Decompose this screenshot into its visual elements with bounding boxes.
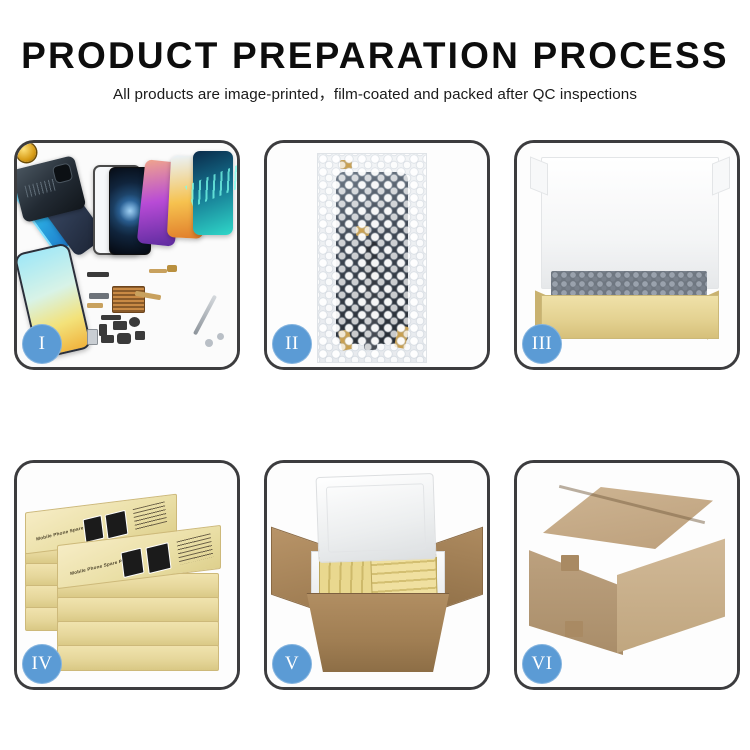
small-part <box>167 265 177 272</box>
tweezers-icon <box>193 295 217 336</box>
box-window <box>145 542 171 574</box>
box-spec-lines <box>133 501 167 530</box>
step-panel-4: Mobile Phone Spare Parts Mobile Phone Sp… <box>14 460 240 690</box>
speaker-coil-icon <box>17 143 36 162</box>
small-part <box>113 321 127 330</box>
stacked-box <box>57 597 219 623</box>
page-title: PRODUCT PREPARATION PROCESS <box>0 37 750 74</box>
bubble-texture <box>318 154 426 362</box>
infographic-page: PRODUCT PREPARATION PROCESS All products… <box>0 0 750 750</box>
small-part <box>205 339 213 347</box>
kraft-box-front <box>541 295 719 339</box>
small-part <box>87 329 98 345</box>
header: PRODUCT PREPARATION PROCESS All products… <box>0 0 750 102</box>
small-part <box>217 333 224 340</box>
small-part <box>89 293 109 299</box>
process-grid: I II <box>14 140 736 690</box>
bubble-wrap-bag <box>317 153 427 363</box>
step-badge-4: IV <box>22 644 62 684</box>
carton-tab <box>565 621 583 637</box>
small-part <box>87 272 109 277</box>
box-window <box>120 548 144 579</box>
step-badge-1: I <box>22 324 62 364</box>
step-panel-2: II <box>264 140 490 370</box>
step-panel-1: I <box>14 140 240 370</box>
flex-cable <box>149 269 167 273</box>
small-part <box>101 315 121 320</box>
box-stack: Mobile Phone Spare Parts Mobile Phone Sp… <box>23 485 237 675</box>
phone-screen-teal <box>193 151 233 235</box>
step-panel-5: V <box>264 460 490 690</box>
stacked-box <box>57 621 219 647</box>
small-part <box>135 331 145 340</box>
step-badge-3: III <box>522 324 562 364</box>
box-spec-lines <box>177 533 214 565</box>
step-panel-6: VI <box>514 460 740 690</box>
small-part <box>101 335 114 343</box>
white-foam-lid <box>541 157 719 289</box>
step-panel-3: III <box>514 140 740 370</box>
stacked-box <box>57 645 219 671</box>
small-part <box>117 333 131 344</box>
small-part <box>129 317 140 327</box>
step-badge-6: VI <box>522 644 562 684</box>
page-subtitle: All products are image-printed，film-coat… <box>0 87 750 102</box>
step-badge-2: II <box>272 324 312 364</box>
step-badge-5: V <box>272 644 312 684</box>
flex-cable <box>87 303 103 308</box>
foam-lid <box>316 473 437 563</box>
box-window <box>105 510 129 540</box>
carton-tab <box>561 555 579 571</box>
chip-array <box>112 286 145 313</box>
carton-body <box>297 593 459 672</box>
